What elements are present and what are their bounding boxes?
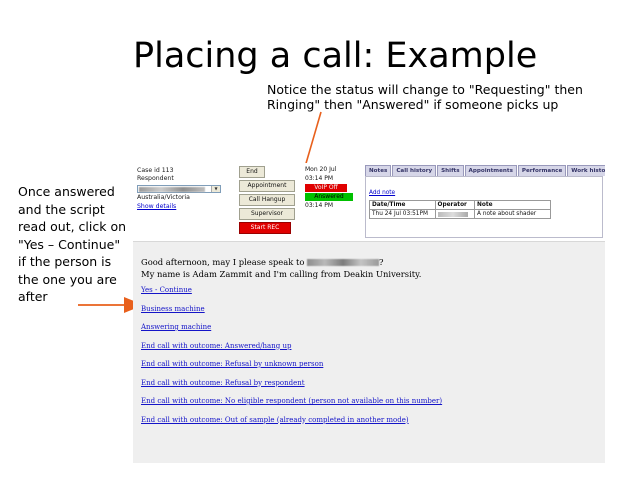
- notes-table: Date/Time Operator Note Thu 24 Jul 03:51…: [369, 200, 551, 219]
- script-area: Good afternoon, may I please speak to ? …: [133, 242, 605, 463]
- notes-col-operator: Operator: [435, 201, 475, 210]
- respondent-label: Respondent: [137, 175, 227, 183]
- notes-table-header-row: Date/Time Operator Note: [370, 201, 551, 210]
- notes-panel: Add note Date/Time Operator Note Thu 24 …: [365, 176, 603, 238]
- note-datetime: Thu 24 Jul 03:51PM: [370, 210, 436, 219]
- status-time-bottom: 03:14 PM: [305, 202, 357, 211]
- table-row[interactable]: Thu 24 Jul 03:51PM A note about shader: [370, 210, 551, 219]
- script-outcome-links: Yes - Continue Business machine Answerin…: [141, 286, 581, 434]
- tab-call-history[interactable]: Call history: [392, 165, 436, 176]
- call-status-block: Mon 20 Jul 03:14 PM VoIP Off Answered 03…: [305, 166, 357, 211]
- case-info-block: Case id 113 Respondent ▼ Australia/Victo…: [137, 167, 227, 211]
- tab-bar: Notes Call history Shifts Appointments P…: [365, 165, 603, 176]
- geography-label: Australia/Victoria: [137, 194, 227, 202]
- voip-status-badge: VoIP Off: [305, 184, 347, 192]
- call-hangup-button[interactable]: Call Hangup: [239, 194, 295, 206]
- annotation-yes-continue-note: Once answered and the script read out, c…: [18, 183, 130, 306]
- tab-appointments[interactable]: Appointments: [465, 165, 517, 176]
- tab-notes[interactable]: Notes: [365, 165, 391, 176]
- end-button[interactable]: End: [239, 166, 265, 178]
- call-action-buttons: End Appointment Call Hangup Supervisor S…: [239, 166, 297, 236]
- add-note-link[interactable]: Add note: [369, 189, 395, 197]
- notes-col-datetime: Date/Time: [370, 201, 436, 210]
- tab-work-history[interactable]: Work history: [567, 165, 605, 176]
- notes-col-note: Note: [475, 201, 551, 210]
- respondent-select[interactable]: ▼: [137, 185, 221, 193]
- link-answering-machine[interactable]: Answering machine: [141, 323, 581, 332]
- link-outcome-refusal-unknown[interactable]: End call with outcome: Refusal by unknow…: [141, 360, 581, 369]
- supervisor-button[interactable]: Supervisor: [239, 208, 295, 220]
- tab-shifts[interactable]: Shifts: [437, 165, 463, 176]
- slide-canvas: Placing a call: Example Notice the statu…: [0, 0, 640, 480]
- note-operator: [435, 210, 475, 219]
- script-line2: My name is Adam Zammit and I'm calling f…: [141, 269, 421, 279]
- tab-performance[interactable]: Performance: [518, 165, 566, 176]
- link-outcome-refusal-respondent[interactable]: End call with outcome: Refusal by respon…: [141, 379, 581, 388]
- start-rec-button[interactable]: Start REC: [239, 222, 291, 234]
- link-business-machine[interactable]: Business machine: [141, 305, 581, 314]
- link-yes-continue[interactable]: Yes - Continue: [141, 286, 581, 295]
- link-outcome-answered-hangup[interactable]: End call with outcome: Answered/hang up: [141, 342, 581, 351]
- script-line1-after: ?: [379, 257, 384, 267]
- appointment-button[interactable]: Appointment: [239, 180, 295, 192]
- answered-status-badge: Answered: [305, 193, 353, 201]
- script-line1-before: Good afternoon, may I please speak to: [141, 257, 307, 267]
- status-time-top: 03:14 PM: [305, 175, 357, 184]
- status-date: Mon 20 Jul: [305, 166, 357, 175]
- link-outcome-out-of-sample[interactable]: End call with outcome: Out of sample (al…: [141, 416, 581, 425]
- note-text: A note about shader: [475, 210, 551, 219]
- respondent-name-redacted: [307, 259, 379, 266]
- case-id-label: Case id 113: [137, 167, 227, 175]
- script-greeting-text: Good afternoon, may I please speak to ? …: [141, 257, 441, 280]
- embedded-screenshot: Case id 113 Respondent ▼ Australia/Victo…: [133, 163, 605, 463]
- chevron-down-icon[interactable]: ▼: [211, 186, 220, 192]
- page-title: Placing a call: Example: [133, 36, 553, 76]
- call-panel: Case id 113 Respondent ▼ Australia/Victo…: [133, 163, 605, 242]
- annotation-status-note: Notice the status will change to "Reques…: [267, 82, 607, 112]
- link-outcome-no-eligible-respondent[interactable]: End call with outcome: No eligible respo…: [141, 397, 581, 406]
- operator-redacted-value: [438, 212, 468, 217]
- show-details-link[interactable]: Show details: [137, 203, 176, 211]
- respondent-redacted-value: [139, 187, 205, 192]
